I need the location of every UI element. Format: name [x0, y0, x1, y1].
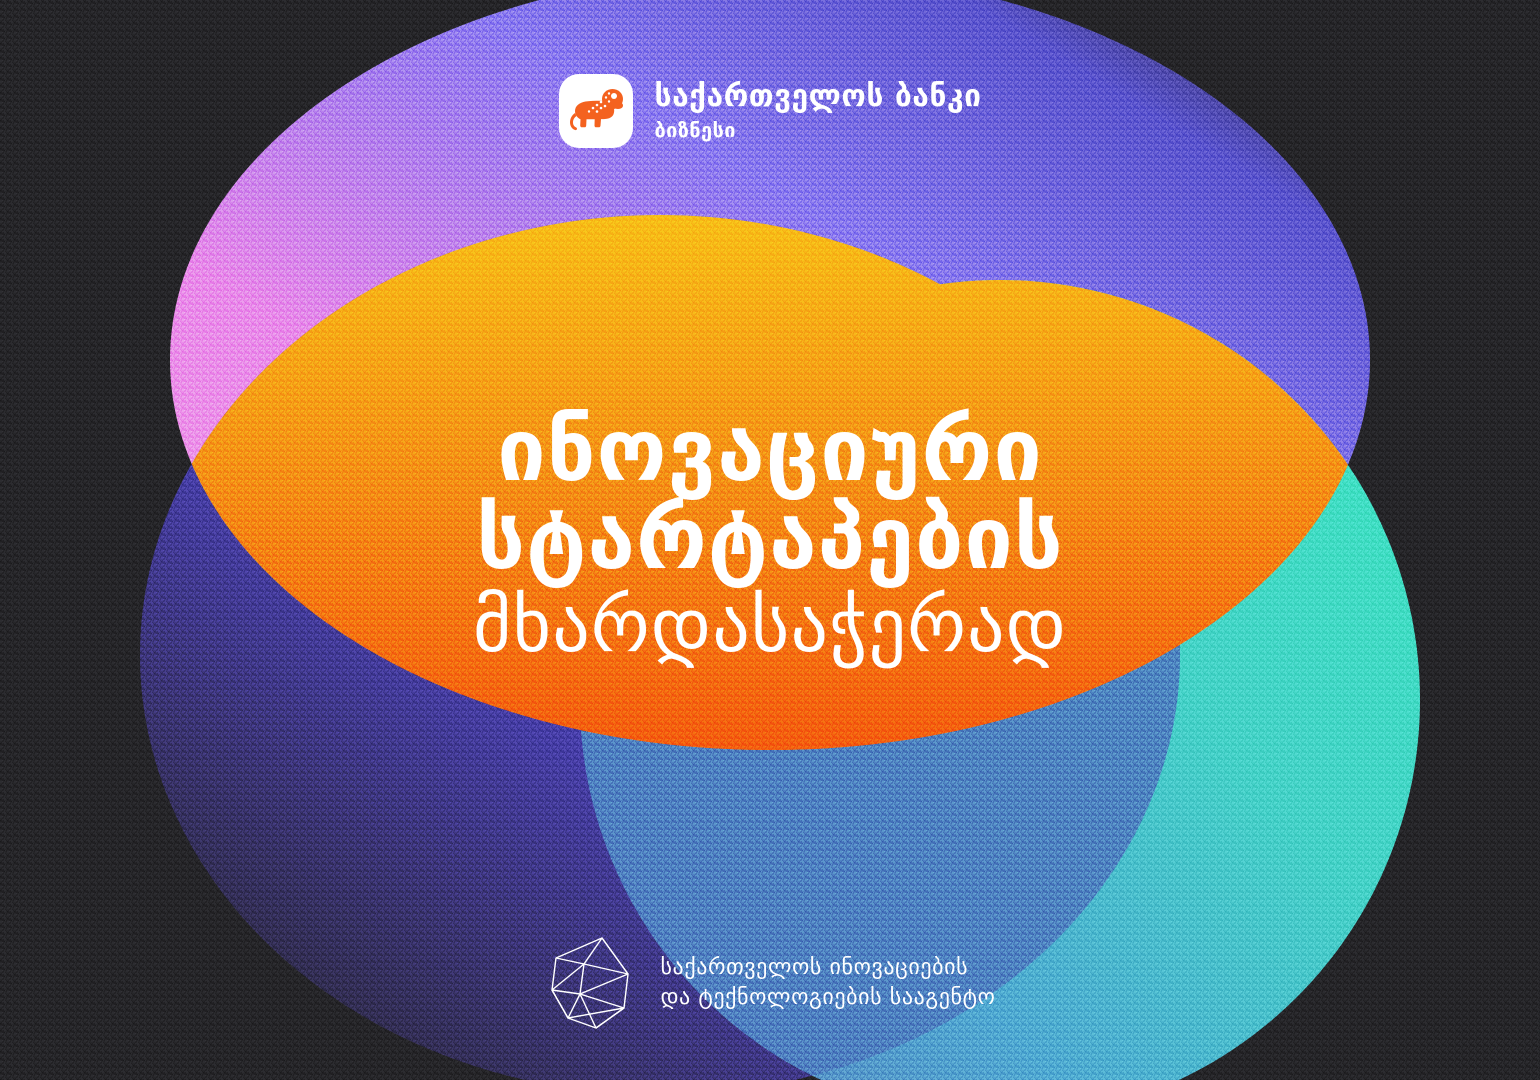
poster-canvas: საქართველოს ბანკი ბიზნესი ინოვაციური სტა… [0, 0, 1540, 1080]
headline-line-2: სტარტაპების [0, 496, 1540, 584]
headline-line-1: ინოვაციური [0, 408, 1540, 496]
bank-name: საქართველოს ბანკი [655, 82, 982, 112]
agency-logo: საქართველოს ინოვაციების და ტექნოლოგიების… [0, 934, 1540, 1032]
headline-line-3: მხარდასაჭერად [0, 585, 1540, 668]
agency-name-line-1: საქართველოს ინოვაციების [660, 953, 995, 983]
agency-logo-icon-wrap [544, 934, 636, 1032]
bank-of-georgia-lion-icon [566, 85, 626, 137]
gem-polyhedron-icon [544, 934, 636, 1032]
agency-name-line-2: და ტექნოლოგიების სააგენტო [660, 983, 995, 1013]
bank-logo-text: საქართველოს ბანკი ბიზნესი [655, 82, 982, 140]
agency-logo-text: საქართველოს ინოვაციების და ტექნოლოგიების… [660, 953, 995, 1013]
headline: ინოვაციური სტარტაპების მხარდასაჭერად [0, 408, 1540, 668]
bank-logo: საქართველოს ბანკი ბიზნესი [0, 74, 1540, 148]
bank-subtitle: ბიზნესი [655, 120, 982, 140]
bank-logo-badge [559, 74, 633, 148]
